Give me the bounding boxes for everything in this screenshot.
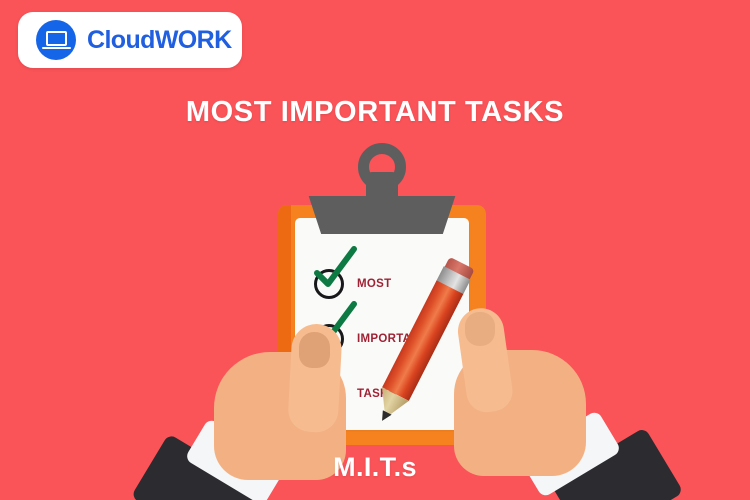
laptop-screen-shape: [46, 31, 67, 46]
poster-canvas: CloudWORK MOST IMPORTANT TASKS MOST: [0, 0, 750, 500]
laptop-base-shape: [42, 47, 71, 50]
page-title: MOST IMPORTANT TASKS: [0, 96, 750, 129]
checklist-item[interactable]: MOST: [314, 269, 391, 299]
laptop-icon: [36, 20, 76, 60]
checklist-item-label: MOST: [357, 278, 391, 290]
brand-logo-badge[interactable]: CloudWORK: [18, 12, 242, 68]
checkbox-circle[interactable]: [314, 269, 344, 299]
clipboard-clip: [304, 196, 460, 234]
left-thumbnail: [299, 332, 330, 368]
brand-name: CloudWORK: [87, 28, 232, 53]
right-thumbnail: [465, 312, 495, 346]
caption-text: M.I.T.s: [0, 452, 750, 483]
